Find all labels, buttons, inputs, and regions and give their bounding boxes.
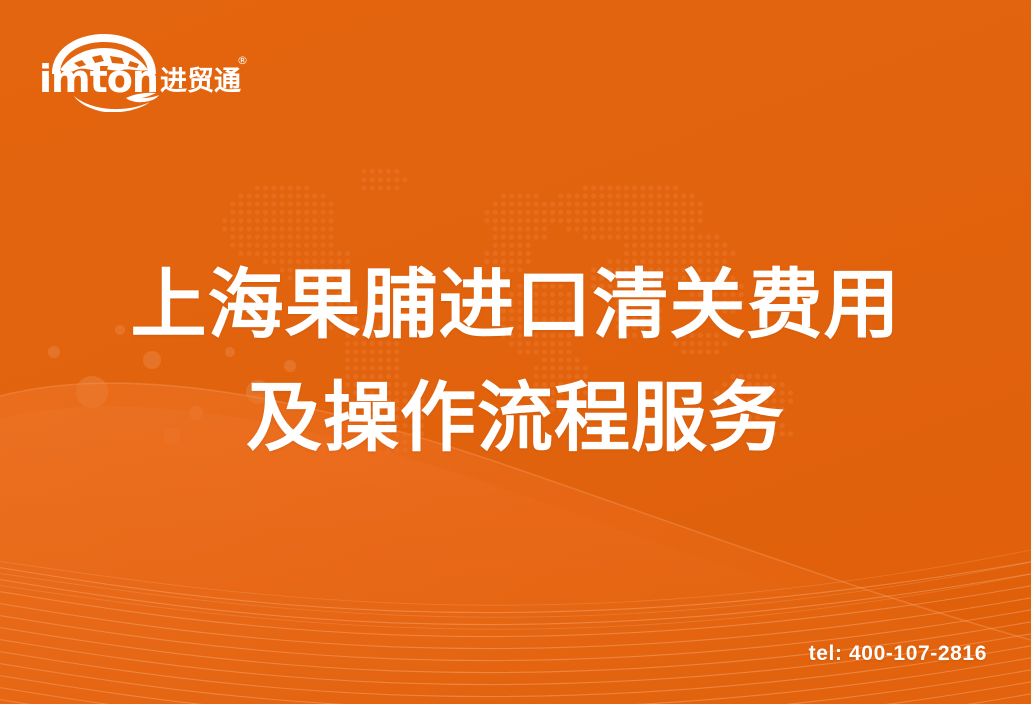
logo-wordmark-latin: imton bbox=[39, 57, 158, 101]
registered-trademark-icon: ® bbox=[237, 54, 248, 67]
headline-line-1: 上海果脯进口清关费用 bbox=[0, 248, 1031, 361]
logo-wordmark-chinese: 进贸通 bbox=[160, 66, 241, 97]
headline: 上海果脯进口清关费用 及操作流程服务 bbox=[0, 248, 1031, 474]
contact-phone[interactable]: tel: 400-107-2816 bbox=[809, 642, 987, 666]
promo-banner: imton 进贸通 ® 上海果脯进口清关费用 及操作流程服务 tel: 400-… bbox=[0, 0, 1031, 704]
headline-line-2: 及操作流程服务 bbox=[0, 361, 1031, 474]
brand-logo[interactable]: imton 进贸通 ® bbox=[38, 30, 253, 112]
